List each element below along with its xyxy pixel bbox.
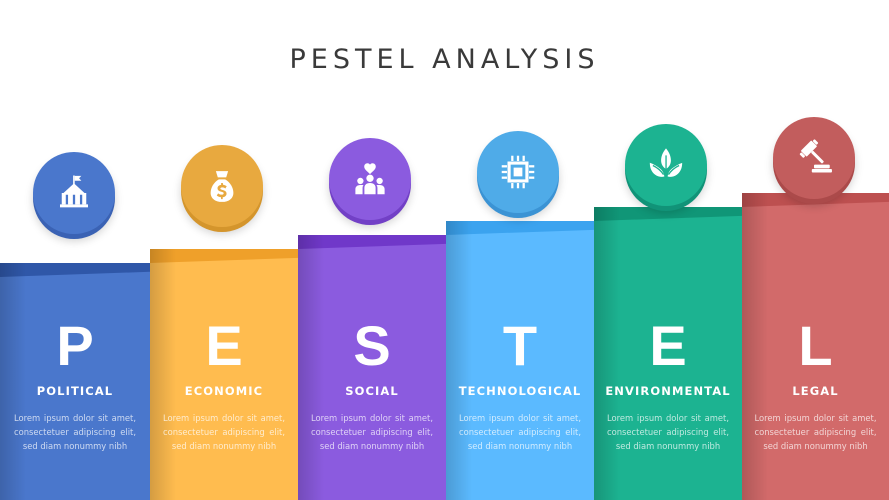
column-letter-political: P <box>0 317 150 375</box>
people-heart-icon <box>349 158 391 200</box>
government-building-icon <box>53 172 95 214</box>
columns-layer: P POLITICAL Lorem ipsum dolor sit amet, … <box>0 0 889 500</box>
column-letter-legal: L <box>742 317 889 375</box>
column-technological[interactable]: T TECHNOLOGICAL Lorem ipsum dolor sit am… <box>446 221 594 500</box>
column-letter-environmental: E <box>594 317 742 375</box>
column-label-environmental: ENVIRONMENTAL <box>594 384 742 398</box>
column-label-political: POLITICAL <box>0 384 150 398</box>
icon-circle-political[interactable] <box>33 152 115 234</box>
column-content-environmental: E ENVIRONMENTAL Lorem ipsum dolor sit am… <box>594 317 742 453</box>
column-description-environmental: Lorem ipsum dolor sit amet, consectetuer… <box>607 411 729 453</box>
icon-circle-legal[interactable] <box>773 117 855 199</box>
column-label-technological: TECHNOLOGICAL <box>446 384 594 398</box>
column-description-social: Lorem ipsum dolor sit amet, consectetuer… <box>311 411 433 453</box>
column-social[interactable]: S SOCIAL Lorem ipsum dolor sit amet, con… <box>298 235 446 500</box>
column-description-legal: Lorem ipsum dolor sit amet, consectetuer… <box>755 411 877 453</box>
money-bag-icon <box>201 165 243 207</box>
column-content-political: P POLITICAL Lorem ipsum dolor sit amet, … <box>0 317 150 453</box>
column-content-economic: E ECONOMIC Lorem ipsum dolor sit amet, c… <box>150 317 298 453</box>
column-economic[interactable]: E ECONOMIC Lorem ipsum dolor sit amet, c… <box>150 249 298 500</box>
column-content-technological: T TECHNOLOGICAL Lorem ipsum dolor sit am… <box>446 317 594 453</box>
column-letter-economic: E <box>150 317 298 375</box>
column-legal[interactable]: L LEGAL Lorem ipsum dolor sit amet, cons… <box>742 193 889 500</box>
column-content-social: S SOCIAL Lorem ipsum dolor sit amet, con… <box>298 317 446 453</box>
column-political[interactable]: P POLITICAL Lorem ipsum dolor sit amet, … <box>0 263 150 500</box>
column-environmental[interactable]: E ENVIRONMENTAL Lorem ipsum dolor sit am… <box>594 207 742 500</box>
pestel-infographic: PESTEL ANALYSIS P POLITICAL Lorem ipsum … <box>0 0 889 500</box>
icon-circle-social[interactable] <box>329 138 411 220</box>
column-description-technological: Lorem ipsum dolor sit amet, consectetuer… <box>459 411 581 453</box>
microchip-icon <box>497 151 539 193</box>
column-description-economic: Lorem ipsum dolor sit amet, consectetuer… <box>163 411 285 453</box>
icon-circle-economic[interactable] <box>181 145 263 227</box>
gavel-icon <box>793 137 835 179</box>
column-label-social: SOCIAL <box>298 384 446 398</box>
column-letter-technological: T <box>446 317 594 375</box>
icon-circle-technological[interactable] <box>477 131 559 213</box>
column-content-legal: L LEGAL Lorem ipsum dolor sit amet, cons… <box>742 317 889 453</box>
column-label-legal: LEGAL <box>742 384 889 398</box>
column-label-economic: ECONOMIC <box>150 384 298 398</box>
icon-circle-environmental[interactable] <box>625 124 707 206</box>
column-letter-social: S <box>298 317 446 375</box>
leaves-icon <box>645 144 687 186</box>
column-description-political: Lorem ipsum dolor sit amet, consectetuer… <box>14 411 136 453</box>
